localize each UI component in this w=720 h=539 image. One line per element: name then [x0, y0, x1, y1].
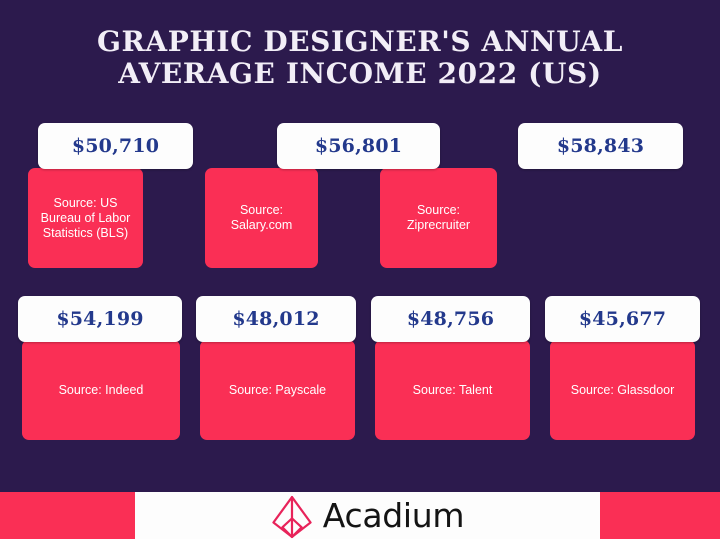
- stat-card-source: Source: Talent: [407, 383, 499, 398]
- stat-card-source: Source: Payscale: [223, 383, 332, 398]
- stat-card-amount: $50,710: [72, 135, 159, 157]
- stat-card-amount: $56,801: [315, 135, 402, 157]
- infographic-canvas: Graphic Designer's Annual Average Income…: [0, 0, 720, 539]
- stat-card-header: $56,801: [277, 123, 440, 169]
- stat-card-header: $50,710: [38, 123, 193, 169]
- stat-card-amount: $58,843: [557, 135, 644, 157]
- brand-name: Acadium: [323, 498, 464, 534]
- stat-card-body: Source: Payscale: [200, 340, 355, 440]
- stat-card-body: Source: Salary.com: [205, 168, 318, 268]
- page-title: Graphic Designer's Annual Average Income…: [0, 26, 720, 90]
- stat-card-header: $54,199: [18, 296, 182, 342]
- stat-card-body: Source: Indeed: [22, 340, 180, 440]
- stat-card-amount: $48,012: [232, 308, 319, 330]
- stat-card-source: Source: Glassdoor: [565, 383, 681, 398]
- stat-card-header: $48,012: [196, 296, 356, 342]
- stat-card-amount: $54,199: [56, 308, 143, 330]
- stat-card-body: Source: Glassdoor: [550, 340, 695, 440]
- stat-card-body: Source: Ziprecruiter: [380, 168, 497, 268]
- stat-card-source: Source: Salary.com: [205, 203, 318, 233]
- stat-card-source: Source: Ziprecruiter: [380, 203, 497, 233]
- stat-card-amount: $48,756: [407, 308, 494, 330]
- brand-panel: Acadium: [135, 492, 600, 539]
- stat-card-header: $45,677: [545, 296, 700, 342]
- stat-card-source: Source: US Bureau of Labor Statistics (B…: [28, 196, 143, 241]
- stat-card-body: Source: US Bureau of Labor Statistics (B…: [28, 168, 143, 268]
- title-line-2: Average Income 2022 (US): [0, 58, 720, 90]
- acadium-diamond-logo-icon: [271, 495, 313, 539]
- stat-card-amount: $45,677: [579, 308, 666, 330]
- footer-band: Acadium: [0, 492, 720, 539]
- stat-card-header: $58,843: [518, 123, 683, 169]
- title-line-1: Graphic Designer's Annual: [0, 26, 720, 58]
- stat-card-header: $48,756: [371, 296, 530, 342]
- stat-card-body: Source: Talent: [375, 340, 530, 440]
- stat-card-source: Source: Indeed: [53, 383, 150, 398]
